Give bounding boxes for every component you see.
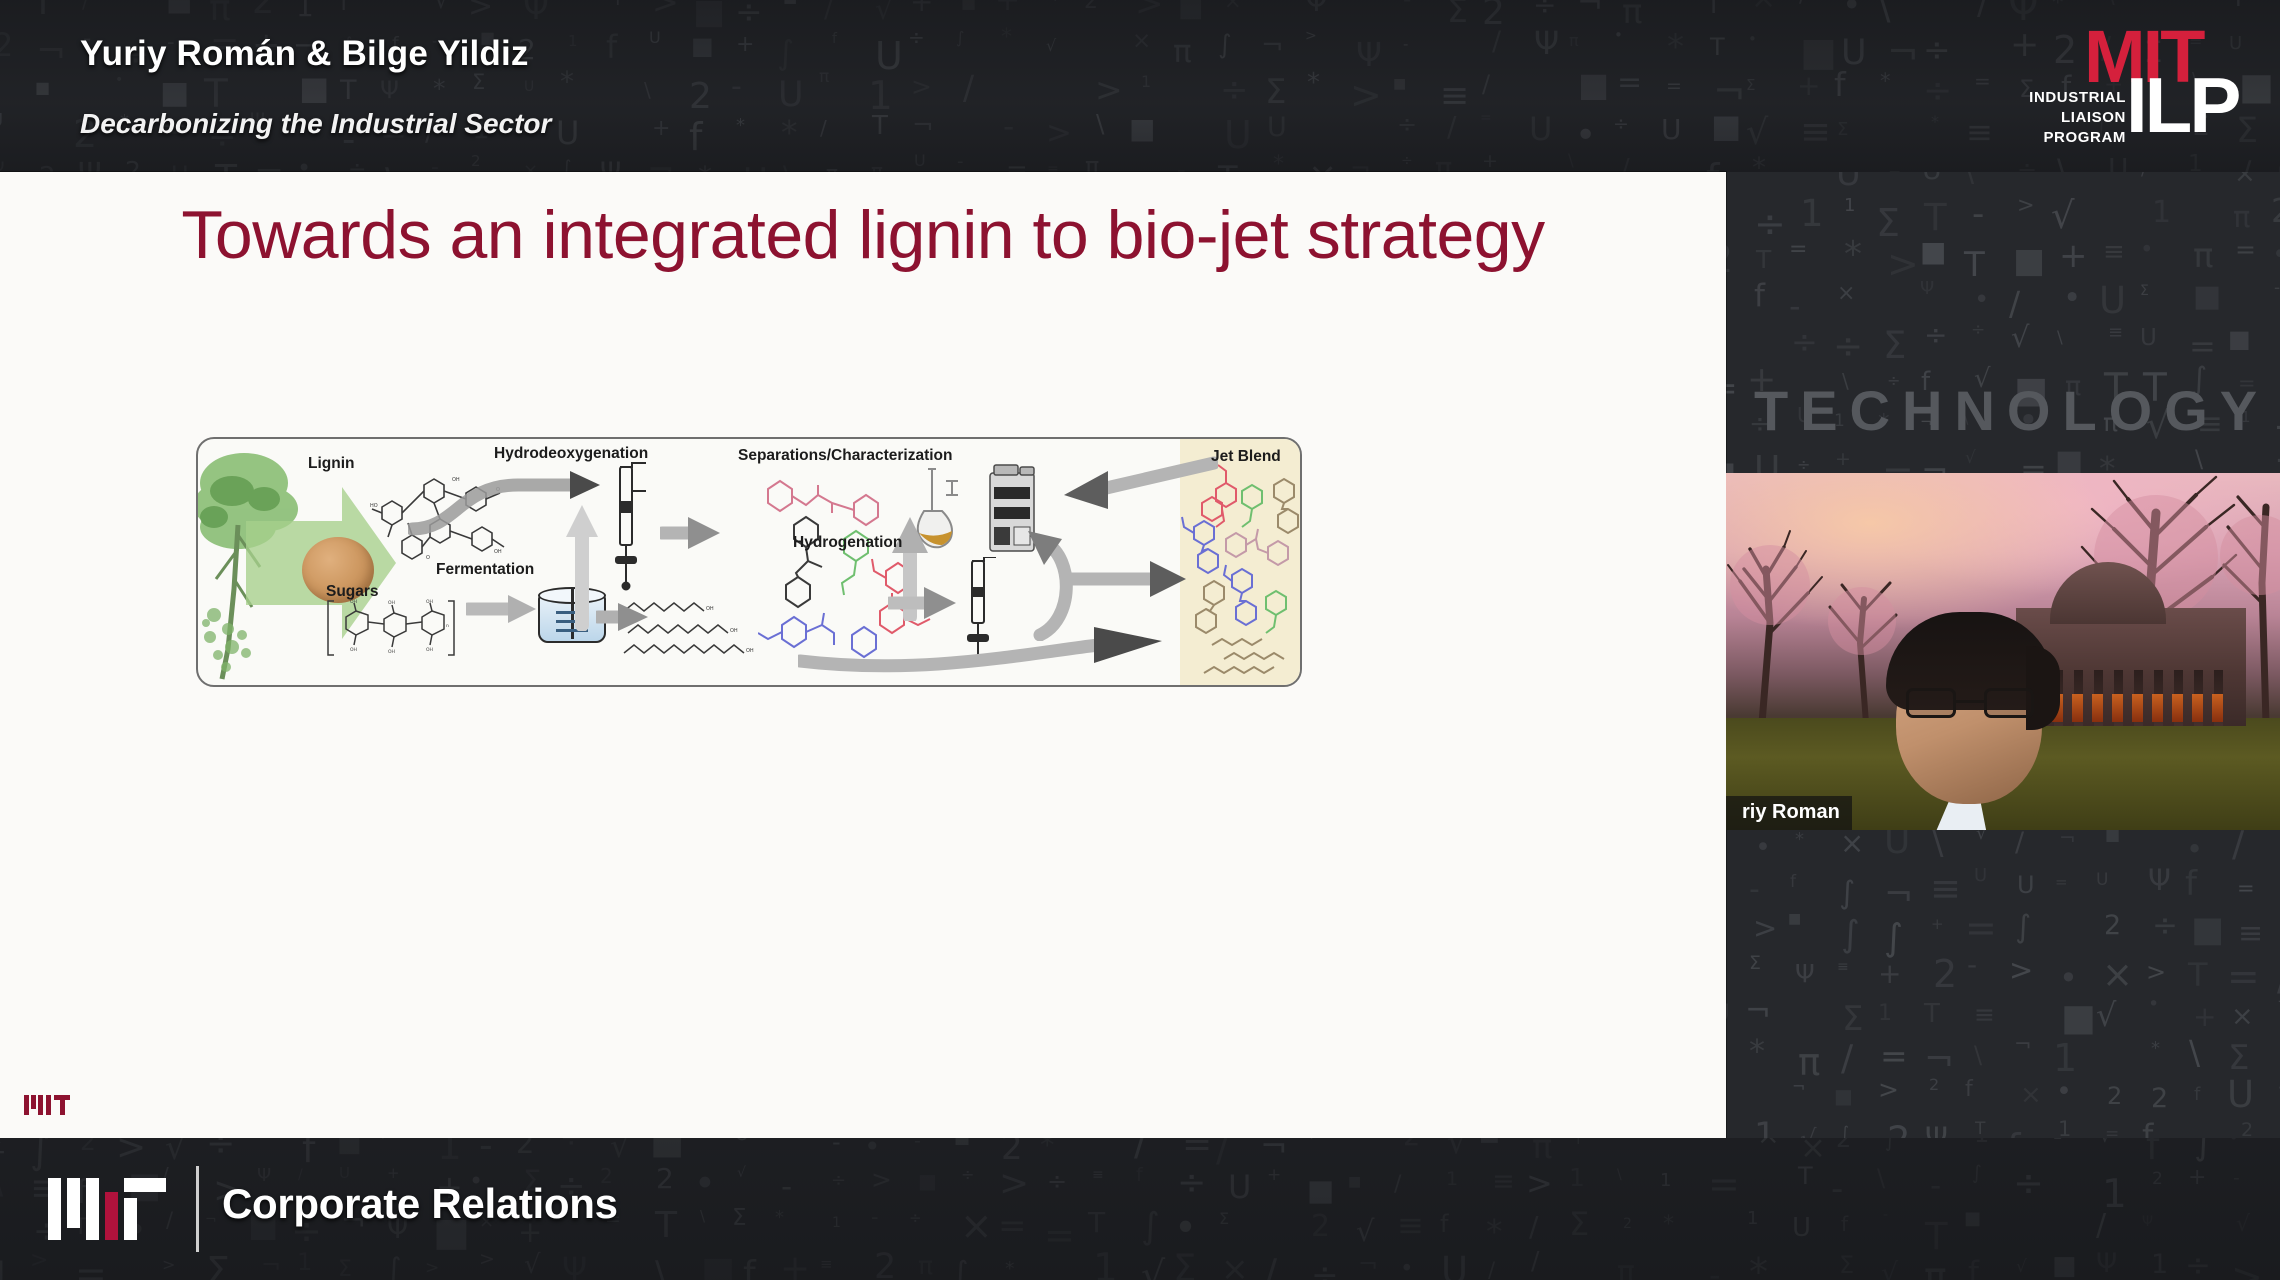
math-symbol: T: [1924, 199, 1947, 236]
mit-logo: [48, 1178, 172, 1240]
math-symbol: ∫: [2015, 912, 2031, 943]
header-shade: [0, 0, 2280, 172]
svg-text:OH: OH: [706, 606, 714, 612]
math-symbol: =: [1965, 909, 1997, 947]
math-symbol: *: [2151, 1040, 2160, 1058]
svg-text:OH: OH: [494, 549, 502, 555]
math-symbol: 2: [2151, 1085, 2168, 1112]
math-symbol: 1: [2053, 1039, 2077, 1077]
svg-text:OH: OH: [426, 599, 433, 605]
sugar-structure: OHOHOH OHOHOH n: [326, 597, 456, 659]
math-symbol: f: [1965, 1079, 1973, 1101]
math-symbol: •: [2056, 1078, 2072, 1105]
ilp-program-line: LIAISON: [2014, 108, 2126, 128]
math-symbol: Σ: [1842, 1002, 1863, 1036]
math-symbol: f: [2194, 1086, 2200, 1104]
math-symbol: -: [1749, 875, 1760, 905]
math-symbol: T: [2188, 959, 2208, 991]
svg-text:HO: HO: [370, 503, 378, 509]
talk-subtitle: Decarbonizing the Industrial Sector: [80, 108, 551, 140]
arrow-jetblend-to-separations: [1050, 455, 1218, 513]
math-symbol: Σ: [1876, 204, 1900, 242]
math-symbol: •: [1755, 834, 1771, 861]
math-symbol: /: [1841, 1041, 1853, 1077]
slide-mit-logo: [24, 1095, 72, 1119]
svg-text:n: n: [446, 624, 449, 629]
math-symbol: •: [2186, 835, 2203, 864]
figure-label: Lignin: [308, 455, 355, 473]
math-symbol: U: [2227, 1076, 2254, 1113]
figure-label: Separations/Characterization: [738, 447, 952, 465]
ilp-program-line: PROGRAM: [2014, 128, 2126, 148]
lignin-to-biojet-figure: HOO OHO OH OHOHOH OHOHOH n: [196, 437, 1302, 687]
math-symbol: 1: [2058, 1119, 2071, 1140]
math-symbol: =: [2055, 875, 2068, 890]
figure-label: Hydrodeoxygenation: [494, 445, 648, 463]
math-symbol: +: [2193, 1003, 2216, 1031]
math-symbol: ■: [2061, 999, 2096, 1036]
math-symbol: ¬: [1924, 1042, 1954, 1078]
math-symbol: +: [1878, 960, 1901, 988]
math-symbol: T: [1756, 247, 1771, 272]
math-symbol: f: [1790, 874, 1796, 891]
math-symbol: •: [2063, 283, 2081, 314]
math-symbol: ¬: [2014, 1034, 2032, 1055]
math-symbol: U: [1974, 867, 1987, 885]
math-symbol: /: [2009, 287, 2020, 320]
math-symbol: Σ: [2228, 1041, 2249, 1075]
math-symbol: =: [2227, 958, 2260, 997]
math-symbol: √: [2096, 999, 2116, 1031]
math-symbol: -: [2274, 280, 2280, 297]
mit-ilp-logo: INDUSTRIALLIAISONPROGRAM MIT ILP: [2010, 14, 2260, 154]
math-symbol: =: [1789, 239, 1807, 261]
footer-bar: Σ∫2>√÷-f■/1-2÷√■TU-•-■2*/=/¬+×2√■πf√××2∫…: [0, 1138, 2280, 1280]
webcast-stage: ∫√-÷Ψ•¬Σ•∫•Uπ×T•2>=*■\Ψ••ff22≡•Ψ=UT\f≡>>…: [0, 0, 2280, 1280]
math-symbol: +: [1835, 450, 1851, 469]
math-symbol: Ψ: [2148, 866, 2171, 895]
math-symbol: ≡: [2103, 239, 2125, 265]
math-symbol: /: [2232, 827, 2244, 863]
math-symbol: >: [1753, 914, 1777, 943]
hdo-reactor-column: [602, 461, 662, 591]
svg-text:OH: OH: [388, 600, 395, 606]
math-symbol: ÷: [1971, 322, 1985, 339]
math-symbol: -: [1967, 951, 1977, 979]
math-symbol: >: [1887, 245, 1919, 283]
math-symbol: •: [2059, 962, 2078, 994]
math-symbol: T: [1924, 1001, 1940, 1027]
math-symbol: ■: [2193, 282, 2221, 312]
math-symbol: +: [1931, 917, 1944, 932]
footer-title: Corporate Relations: [222, 1180, 618, 1228]
math-symbol: π: [2193, 239, 2213, 273]
math-symbol: ×: [1840, 829, 1864, 858]
math-symbol: Ψ: [1795, 961, 1815, 986]
math-symbol: =: [2235, 237, 2256, 262]
math-symbol: ¬: [1792, 1079, 1805, 1095]
math-symbol: √: [2051, 197, 2075, 234]
arrow-sugars-to-fermentation: [466, 589, 546, 629]
participant-video-tile[interactable]: riy Roman: [1726, 473, 2280, 830]
math-symbol: Σ: [1749, 954, 1761, 973]
math-symbol: ■: [1788, 912, 1801, 926]
math-symbol: 2: [2104, 912, 2121, 939]
figure-label: Jet Blend: [1211, 448, 1281, 466]
math-symbol: >: [2009, 956, 2033, 985]
math-symbol: \: [2195, 447, 2203, 471]
math-symbol: U: [2096, 872, 2108, 889]
math-symbol: •: [2272, 241, 2280, 268]
math-symbol: ×: [2102, 956, 2133, 993]
math-symbol: ×: [2020, 1082, 2042, 1108]
svg-text:OH: OH: [350, 647, 357, 653]
math-symbol: ≡: [1974, 1002, 1995, 1027]
math-symbol: ×: [1837, 283, 1855, 305]
header-bar: T/f■π21f√>Ψ+>■÷■/√+■+*2>■××Ψ-Σ2÷¬πT×/•\Ψ…: [0, 0, 2280, 172]
ilp-ilp-text: ILP: [2126, 66, 2238, 144]
figure-label: Fermentation: [436, 561, 534, 579]
arrow-alcohols-to-jetblend: [798, 589, 1198, 675]
math-symbol: +: [2059, 239, 2088, 273]
math-symbol: ÷: [1833, 329, 1863, 365]
math-symbol: =: [2189, 330, 2216, 362]
math-symbol: ¬: [2059, 828, 2076, 848]
math-symbol: 1: [2152, 198, 2171, 228]
math-symbol: ≡: [2108, 324, 2123, 342]
math-symbol: •: [2140, 239, 2154, 262]
math-symbol: ■: [2191, 913, 2224, 948]
math-symbol: =: [2237, 878, 2255, 899]
math-symbol: 2: [2107, 1084, 2122, 1108]
math-symbol: ∫: [1884, 919, 1903, 956]
math-symbol: \: [1932, 826, 1943, 860]
math-symbol: \: [2057, 330, 2063, 347]
math-symbol: ≡: [1930, 870, 1961, 907]
math-symbol: 1: [1878, 1003, 1892, 1025]
footer-divider: [196, 1166, 199, 1252]
math-symbol: T: [1975, 1121, 1985, 1138]
slide-title: Towards an integrated lignin to bio-jet …: [0, 196, 1726, 274]
math-symbol: ÷: [1924, 321, 1947, 349]
figure-label: Sugars: [326, 583, 379, 601]
math-symbol: ¬: [1745, 996, 1771, 1027]
math-symbol: \: [2189, 1036, 2200, 1069]
math-symbol: ■: [2013, 244, 2045, 278]
arrow-alcohols-up-to-hdo: [560, 499, 606, 631]
math-symbol: Σ: [2140, 284, 2149, 298]
participant-name-label: riy Roman: [1726, 796, 1852, 830]
svg-text:OH: OH: [746, 648, 754, 654]
math-symbol: f: [2185, 867, 2197, 901]
math-symbol: =: [1880, 1039, 1908, 1072]
math-symbol: ∫: [1839, 878, 1855, 909]
math-symbol: >: [2017, 195, 2035, 216]
math-symbol: ¬: [2273, 410, 2280, 448]
math-symbol: ■: [1834, 1086, 1853, 1106]
math-symbol: ×: [2231, 1003, 2254, 1030]
math-symbol: ≡: [1837, 960, 1849, 974]
technology-watermark: TECHNOLOGY: [1754, 378, 2269, 443]
arrow-hdo-to-intermediates: [660, 509, 730, 557]
math-symbol: ■: [2228, 327, 2251, 351]
math-symbol: -: [1972, 197, 1984, 231]
math-symbol: *: [1844, 237, 1862, 273]
math-symbol: 1: [1844, 197, 1855, 215]
speaker-names: Yuriy Román & Bilge Yildiz: [80, 34, 529, 74]
math-symbol: 2: [2271, 194, 2280, 227]
math-symbol: √: [1965, 450, 1976, 467]
math-symbol: Ψ: [1920, 280, 1934, 298]
math-symbol: 2: [1929, 1077, 1939, 1093]
math-symbol: •: [1974, 287, 1989, 313]
participant-glasses: [1906, 688, 2034, 718]
math-symbol: π: [1798, 1044, 1820, 1081]
math-symbol: f: [1754, 281, 1765, 312]
math-symbol: 1: [1800, 195, 1824, 232]
math-symbol: ÷: [1797, 457, 1810, 473]
math-symbol: ∫: [1841, 917, 1860, 953]
math-symbol: \: [1974, 1043, 1982, 1067]
svg-text:OH: OH: [426, 647, 433, 653]
math-symbol: π: [2233, 203, 2250, 232]
math-symbol: >: [2146, 960, 2166, 984]
svg-text:O: O: [426, 555, 430, 561]
math-symbol: >: [1878, 1077, 1899, 1102]
svg-text:OH: OH: [388, 649, 395, 655]
math-symbol: ≡: [2238, 919, 2263, 949]
math-symbol: √: [2011, 323, 2029, 352]
math-symbol: ■: [1920, 238, 1946, 266]
math-symbol: 2: [1933, 955, 1957, 993]
math-symbol: *: [1749, 1035, 1765, 1067]
math-symbol: /: [2015, 829, 2024, 856]
math-symbol: U: [2140, 327, 2157, 350]
math-symbol: ÷: [1754, 205, 1786, 243]
svg-text:OH: OH: [730, 628, 738, 634]
math-symbol: •: [2148, 995, 2159, 1014]
math-symbol: U: [2017, 873, 2035, 897]
presentation-slide[interactable]: Towards an integrated lignin to bio-jet …: [0, 172, 1726, 1139]
figure-label: Hydrogenation: [793, 534, 902, 552]
math-symbol: *: [1795, 831, 1804, 849]
math-symbol: T: [1964, 248, 1985, 282]
math-symbol: -: [1789, 290, 1801, 322]
math-symbol: ÷: [2152, 911, 2178, 942]
math-symbol: U: [2099, 282, 2126, 319]
math-symbol: Σ: [1883, 327, 1906, 364]
math-symbol: ¬: [1884, 878, 1913, 913]
math-symbol: ÷: [1791, 326, 1818, 358]
